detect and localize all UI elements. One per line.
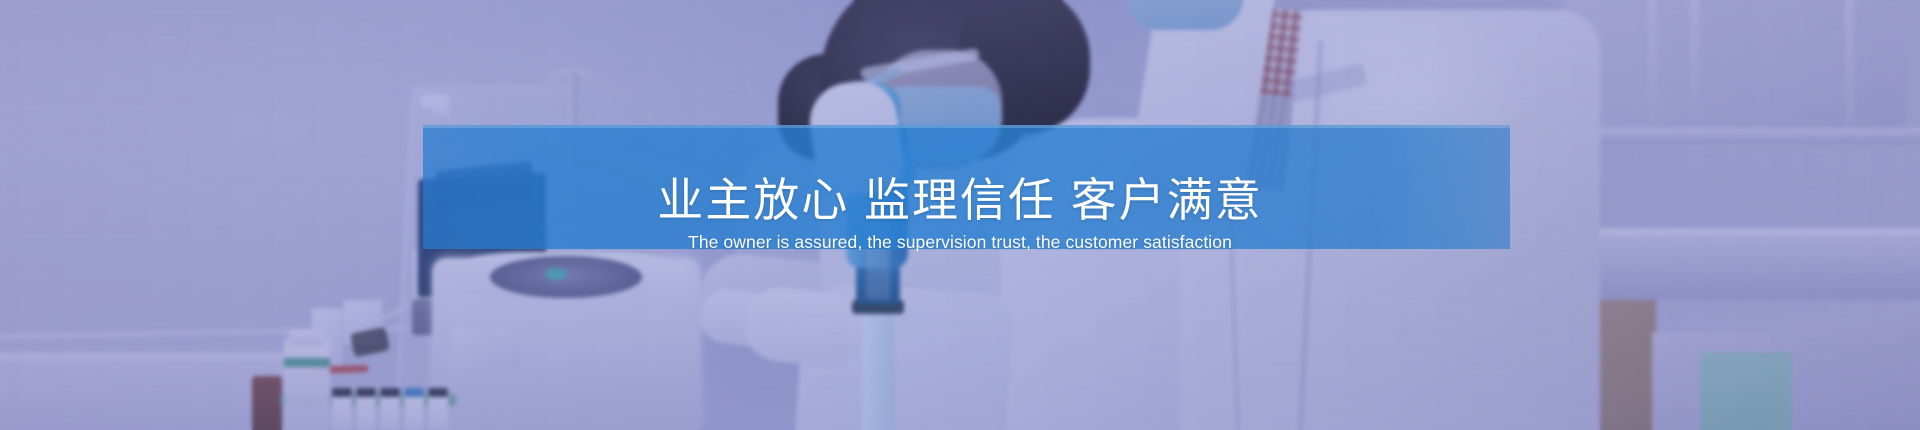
banner-subtitle: The owner is assured, the supervision tr… (688, 232, 1232, 253)
hero-banner: 业主放心 监理信任 客户满意 The owner is assured, the… (0, 0, 1920, 430)
banner-headline: 业主放心 监理信任 客户满意 (657, 177, 1263, 225)
banner-text-block: 业主放心 监理信任 客户满意 The owner is assured, the… (0, 0, 1920, 430)
